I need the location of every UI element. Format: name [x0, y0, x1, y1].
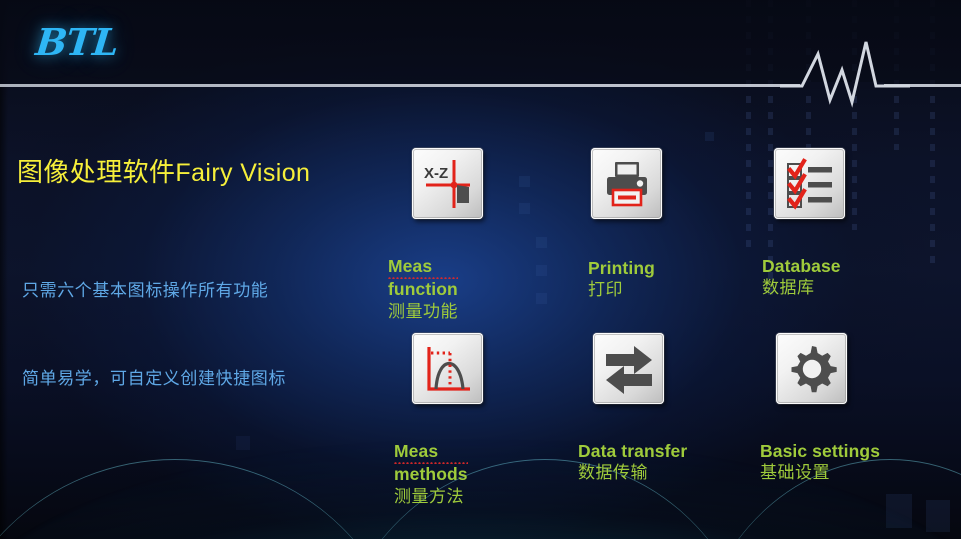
database-button[interactable]	[774, 148, 845, 219]
label-data-transfer: Data transfer 数据传输	[578, 441, 687, 484]
label-data-transfer-zh: 数据传输	[578, 463, 687, 484]
label-rest: methods	[394, 464, 468, 485]
icon-cell-meas-methods[interactable]	[412, 333, 483, 404]
icon-cell-basic-settings[interactable]	[776, 333, 847, 404]
page-title-en: Fairy Vision	[175, 159, 310, 187]
label-rest: function	[388, 279, 458, 300]
basic-settings-button[interactable]	[776, 333, 847, 404]
printer-icon	[599, 156, 655, 212]
gear-icon	[784, 341, 840, 397]
label-database-en: Database	[762, 256, 841, 277]
misspelled-word: Meas	[394, 441, 468, 464]
label-meas-methods-zh: 测量方法	[394, 487, 468, 508]
label-printing: Printing 打印	[588, 258, 655, 301]
label-basic-settings-en: Basic settings	[760, 441, 880, 462]
heartbeat-icon	[780, 38, 910, 116]
label-basic-settings-zh: 基础设置	[760, 463, 880, 484]
misspelled-word: Meas	[388, 256, 458, 279]
label-basic-settings: Basic settings 基础设置	[760, 441, 880, 484]
slide-canvas: BTL 图像处理软件Fairy Vision 只需六个基本图标操作所有功能 简单…	[0, 0, 961, 539]
feature-bullet-2: 简单易学，可自定义创建快捷图标	[22, 364, 286, 389]
curve-chart-icon	[420, 341, 476, 397]
icon-cell-database[interactable]	[774, 148, 845, 219]
icon-cell-printing[interactable]	[591, 148, 662, 219]
printing-button[interactable]	[591, 148, 662, 219]
label-meas-function-en: Meas function	[388, 256, 458, 301]
label-meas-function-zh: 测量功能	[388, 302, 458, 323]
icon-cell-meas-function[interactable]: X-Z	[412, 148, 483, 219]
label-meas-methods-en: Meas methods	[394, 441, 468, 486]
label-meas-methods: Meas methods 测量方法	[394, 441, 468, 507]
page-title: 图像处理软件Fairy Vision	[17, 152, 310, 189]
meas-function-button[interactable]: X-Z	[412, 148, 483, 219]
brand-logo: BTL	[34, 20, 120, 64]
label-printing-en: Printing	[588, 258, 655, 279]
meas-methods-button[interactable]	[412, 333, 483, 404]
label-printing-zh: 打印	[588, 280, 655, 301]
label-database: Database 数据库	[762, 256, 841, 299]
checklist-icon	[782, 156, 838, 212]
label-data-transfer-en: Data transfer	[578, 441, 687, 462]
data-transfer-button[interactable]	[593, 333, 664, 404]
label-database-zh: 数据库	[762, 278, 841, 299]
xz-crosshair-icon: X-Z	[420, 156, 476, 212]
feature-bullet-1: 只需六个基本图标操作所有功能	[22, 276, 268, 301]
icon-cell-data-transfer[interactable]	[593, 333, 664, 404]
label-meas-function: Meas function 测量功能	[388, 256, 458, 322]
two-way-arrows-icon	[601, 341, 657, 397]
page-title-zh: 图像处理软件	[17, 157, 175, 187]
svg-text:X-Z: X-Z	[424, 165, 448, 182]
